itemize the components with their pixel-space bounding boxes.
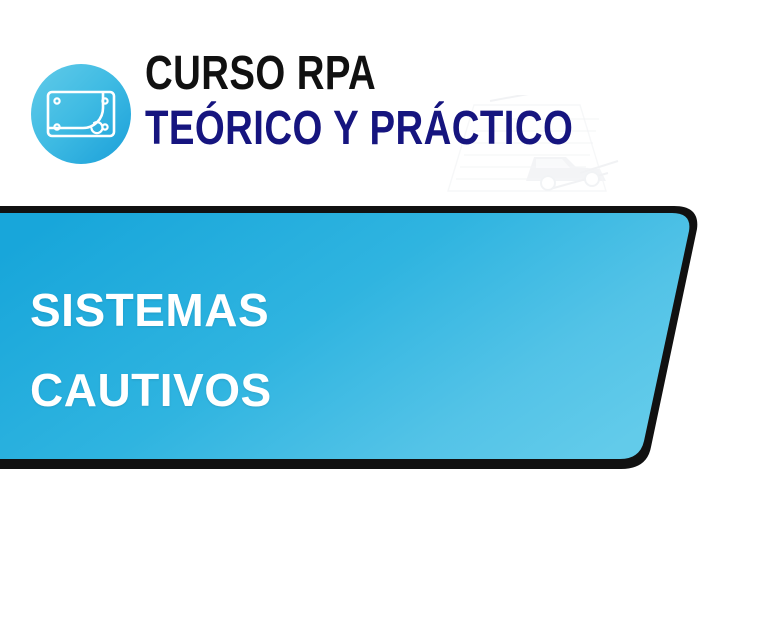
watermark-wheel-left [541,176,555,190]
header-section: CURSO RPA TEÓRICO Y PRÁCTICO [0,0,768,200]
watermark-wheel-right [585,172,599,186]
rpa-device-circle-logo [31,64,131,164]
section-banner: SISTEMAS CAUTIVOS [0,195,768,485]
logo-circle [31,64,131,164]
banner-text-block: SISTEMAS CAUTIVOS [30,270,550,430]
page-subtitle: TEÓRICO Y PRÁCTICO [145,104,593,154]
page-title: CURSO RPA [145,50,593,98]
banner-line-1: SISTEMAS [30,270,550,350]
banner-line-2: CAUTIVOS [30,350,550,430]
title-block: CURSO RPA TEÓRICO Y PRÁCTICO [145,50,705,154]
